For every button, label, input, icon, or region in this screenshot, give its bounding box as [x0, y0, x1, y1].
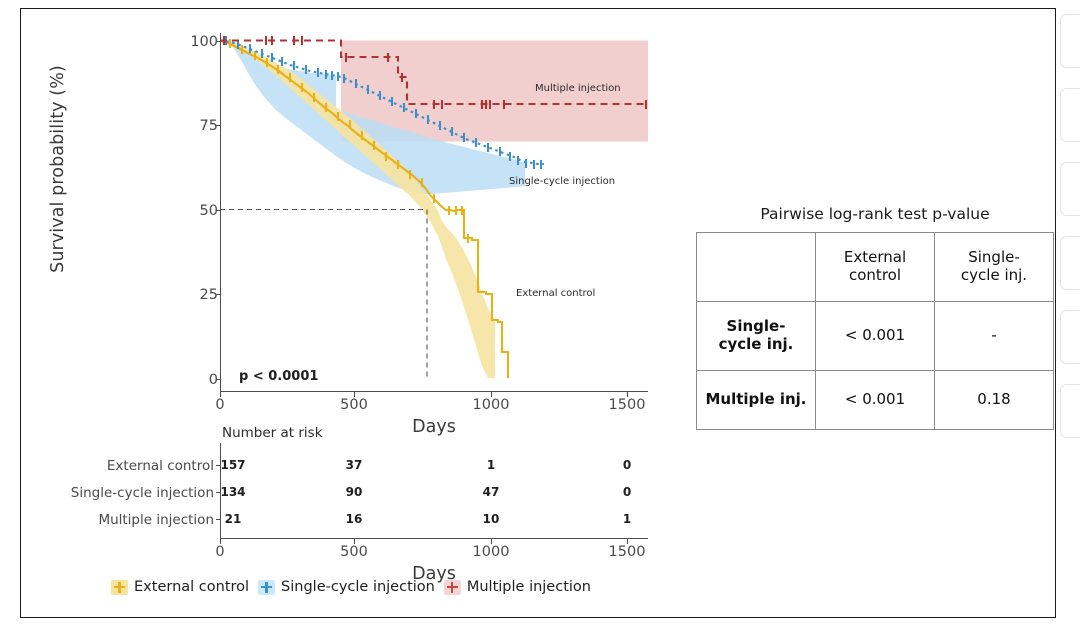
km-plot-column: Survival probability (%) 100 75 50 25 0 [21, 9, 681, 617]
edge-chip [1060, 236, 1080, 290]
legend-label: Single-cycle injection [281, 579, 435, 595]
pvalue-cell: 0.18 [935, 371, 1054, 430]
x-tick-1500: 1500 [597, 397, 657, 413]
edge-chip [1060, 310, 1080, 364]
y-tick-100: 100 [178, 34, 218, 50]
legend: External control Single-cycle injection … [21, 579, 681, 595]
risk-value: 16 [324, 512, 384, 526]
row-header-line2: cycle inj. [719, 335, 794, 353]
risk-value: 134 [203, 485, 263, 499]
risk-value: 47 [461, 485, 521, 499]
figure-frame: Survival probability (%) 100 75 50 25 0 [20, 8, 1056, 618]
edge-chip [1060, 88, 1080, 142]
risk-x-tick-1500: 1500 [597, 544, 657, 560]
risk-table: Number at risk External control 157 37 1… [220, 443, 648, 563]
p-value-annotation: p < 0.0001 [239, 369, 318, 384]
y-tick-50: 50 [178, 203, 218, 219]
pvalue-table-row-single-cycle-inj: Single- cycle inj. < 0.001 - [697, 302, 1054, 371]
curve-label-single-cycle-injection: Single-cycle injection [509, 176, 615, 187]
row-header-line1: Single- [727, 317, 786, 335]
pvalue-table-row-multiple-inj: Multiple inj. < 0.001 0.18 [697, 371, 1054, 430]
pvalue-row-label-single-cycle-inj: Single- cycle inj. [697, 302, 816, 371]
pvalue-table: External control Single- cycle inj. Sing… [696, 232, 1054, 430]
y-axis-title: Survival probability (%) [48, 54, 68, 284]
pvalue-cell: - [935, 302, 1054, 371]
legend-label: Multiple injection [467, 579, 591, 595]
pvalue-table-header-row: External control Single- cycle inj. [697, 233, 1054, 302]
curve-label-multiple-injection: Multiple injection [535, 83, 621, 94]
pvalue-table-wrapper: Pairwise log-rank test p-value External … [689, 205, 1061, 430]
x-tick-500: 500 [324, 397, 384, 413]
legend-item-external-control[interactable]: External control [111, 579, 249, 595]
figure-root: Survival probability (%) 100 75 50 25 0 [0, 0, 1080, 626]
pvalue-table-corner-cell [697, 233, 816, 302]
risk-table-title: Number at risk [222, 425, 323, 441]
risk-row-label-external-control: External control [0, 458, 214, 474]
legend-key-plus-icon [111, 580, 128, 595]
x-tick-1000: 1000 [461, 397, 521, 413]
risk-table-x-axis [220, 538, 648, 539]
risk-value: 21 [203, 512, 263, 526]
km-plot-panel: 100 75 50 25 0 [220, 21, 648, 391]
pvalue-row-label-multiple-inj: Multiple inj. [697, 371, 816, 430]
edge-chip [1060, 162, 1080, 216]
km-curves [220, 21, 648, 391]
edge-chip [1060, 14, 1080, 68]
col-header-line1: External [844, 248, 906, 266]
legend-key-plus-icon [258, 580, 275, 595]
x-tick-0: 0 [190, 397, 250, 413]
legend-key-plus-icon [444, 580, 461, 595]
col-header-line2: cycle inj. [961, 266, 1027, 284]
pvalue-cell: < 0.001 [816, 371, 935, 430]
risk-x-tick-500: 500 [324, 544, 384, 560]
pvalue-table-col-single-cycle-inj: Single- cycle inj. [935, 233, 1054, 302]
risk-x-tick-1000: 1000 [461, 544, 521, 560]
risk-value: 0 [597, 485, 657, 499]
risk-x-tick-0: 0 [190, 544, 250, 560]
col-header-line2: control [849, 266, 901, 284]
y-tick-25: 25 [178, 287, 218, 303]
risk-value: 1 [597, 512, 657, 526]
pvalue-table-col-external-control: External control [816, 233, 935, 302]
pvalue-table-title: Pairwise log-rank test p-value [689, 205, 1061, 223]
legend-item-multiple-injection[interactable]: Multiple injection [444, 579, 591, 595]
y-tick-0: 0 [178, 372, 218, 388]
col-header-line1: Single- [968, 248, 1020, 266]
risk-row-label-multiple-injection: Multiple injection [0, 512, 214, 528]
risk-value: 1 [461, 458, 521, 472]
risk-row-label-single-cycle-injection: Single-cycle injection [0, 485, 214, 501]
edge-chip [1060, 384, 1080, 438]
risk-value: 37 [324, 458, 384, 472]
y-tick-75: 75 [178, 118, 218, 134]
risk-value: 0 [597, 458, 657, 472]
risk-value: 10 [461, 512, 521, 526]
pvalue-cell: < 0.001 [816, 302, 935, 371]
risk-value: 157 [203, 458, 263, 472]
legend-label: External control [134, 579, 249, 595]
legend-item-single-cycle-injection[interactable]: Single-cycle injection [258, 579, 435, 595]
risk-value: 90 [324, 485, 384, 499]
x-axis-line [220, 391, 648, 392]
curve-label-external-control: External control [516, 288, 595, 299]
